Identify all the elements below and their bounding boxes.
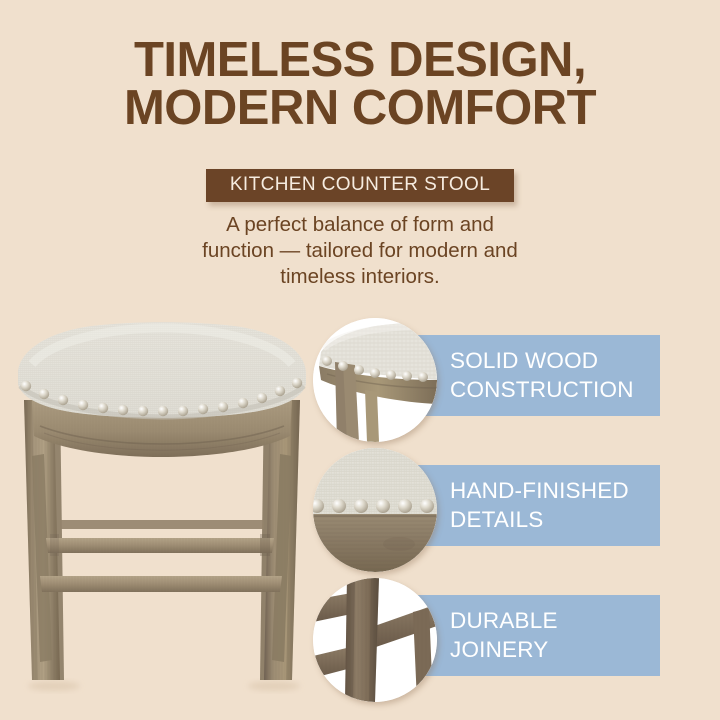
feature-inset-image-hand-finished [313,448,437,572]
headline-line-1: Timeless Design, [134,33,586,87]
feature-callout-solid-wood-construction: Solid Wood Construction [310,316,720,444]
subtitle: A perfect balance of form and function —… [120,212,600,291]
feature-label-line-1: Durable Joinery [450,608,558,662]
headline-line-2: Modern Comfort [0,84,720,132]
subtitle-line-2: function — tailored for modern and [120,238,600,264]
feature-inset-image-durable-joinery [313,578,437,702]
page-title: Timeless Design, Modern Comfort [0,36,720,132]
subtitle-line-1: A perfect balance of form and [120,212,600,238]
feature-callout-hand-finished-details: Hand-Finished Details [310,446,720,574]
feature-label: Hand-Finished Details [450,477,629,534]
feature-callout-durable-joinery: Durable Joinery [310,576,720,704]
feature-inset-image-solid-wood [313,318,437,442]
feature-label: Solid Wood Construction [450,347,634,404]
feature-label-line-2: Details [450,507,544,532]
badge-container: Kitchen Counter Stool [0,169,720,202]
subtitle-line-3: timeless interiors. [120,264,600,290]
feature-label-line-1: Hand-Finished [450,478,629,503]
feature-label: Durable Joinery [450,607,660,664]
feature-label-line-1: Solid Wood [450,348,598,373]
product-hero-image [2,288,322,698]
product-marketing-poster: Timeless Design, Modern Comfort Kitchen … [0,0,720,720]
product-category-badge: Kitchen Counter Stool [206,169,514,202]
feature-label-line-2: Construction [450,377,634,402]
